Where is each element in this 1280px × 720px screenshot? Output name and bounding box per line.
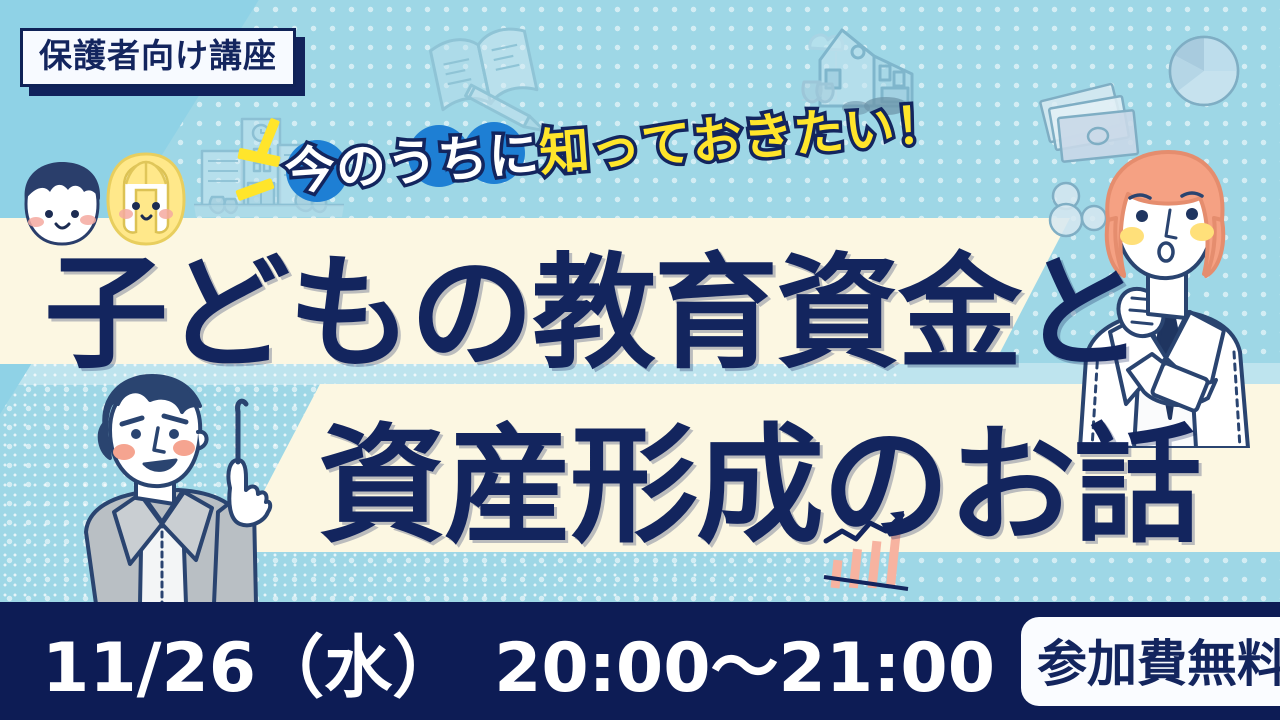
subtitle-char: お — [689, 99, 745, 175]
subtitle-char: 知 — [537, 110, 593, 186]
seminar-banner: 保護者向け講座 今のうちに知っておきたい！ 子どもの教育資金と 資産形成のお話 … — [0, 0, 1280, 720]
subtitle-char: き — [740, 95, 796, 171]
subtitle-char: ！ — [893, 84, 949, 160]
subtitle-char: 今 — [282, 129, 338, 205]
subtitle-char: た — [791, 91, 847, 167]
event-time: 20:00〜21:00 — [494, 612, 995, 711]
pie-chart-icon — [1168, 35, 1240, 107]
course-badge-label: 保護者向け講座 — [39, 36, 277, 75]
event-date: 11/26（水） — [42, 612, 460, 711]
free-admission-badge: 参加費無料 — [1021, 617, 1280, 706]
title-line-1: 子どもの教育資金と — [44, 212, 1142, 392]
event-info-bar: 11/26（水） 20:00〜21:00 参加費無料 — [0, 602, 1280, 720]
subtitle-char: う — [384, 121, 440, 197]
subtitle-char: て — [638, 102, 694, 178]
subtitle-char: ち — [435, 117, 491, 193]
subtitle-char: に — [486, 114, 542, 190]
subtitle-char: っ — [587, 106, 643, 182]
free-admission-label: 参加費無料 — [1037, 635, 1280, 693]
subtitle-char: の — [333, 125, 389, 201]
man-pointing-illustration — [18, 372, 288, 604]
title-line-2: 資産形成のお話 — [318, 382, 1200, 567]
course-badge: 保護者向け講座 — [20, 28, 296, 87]
subtitle-char: い — [842, 88, 898, 164]
